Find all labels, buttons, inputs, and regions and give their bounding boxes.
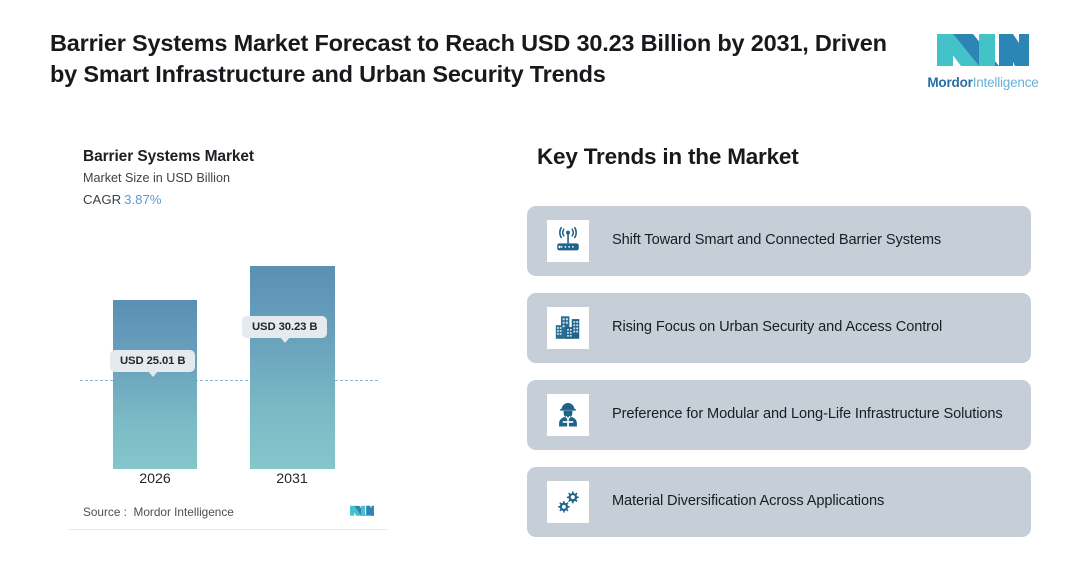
trend-card-1-label: Shift Toward Smart and Connected Barrier… xyxy=(612,231,941,251)
brand-name-secondary: Intelligence xyxy=(973,75,1039,90)
brand-logo-text: MordorIntelligence xyxy=(913,76,1053,90)
trend-card-1[interactable]: Shift Toward Smart and Connected Barrier… xyxy=(527,206,1031,276)
city-buildings-icon xyxy=(547,307,589,349)
chart-source-row: Source : Mordor Intelligence xyxy=(83,502,375,524)
bar-label-2026: USD 25.01 B xyxy=(110,350,195,372)
chart-source-text: Source : Mordor Intelligence xyxy=(83,505,234,519)
trend-card-3-label: Preference for Modular and Long-Life Inf… xyxy=(612,405,1003,425)
x-axis-labels: 2026 2031 xyxy=(68,471,388,495)
x-tick-2031: 2031 xyxy=(247,471,337,487)
construction-worker-icon xyxy=(547,394,589,436)
chart-title: Barrier Systems Market xyxy=(83,148,254,166)
page-title: Barrier Systems Market Forecast to Reach… xyxy=(50,28,890,89)
chart-subtitle: Market Size in USD Billion xyxy=(83,171,230,185)
mordor-m-logo-icon-small xyxy=(349,502,375,524)
bar-chart-plot-area: USD 25.01 B USD 30.23 B xyxy=(68,224,388,469)
trend-card-2[interactable]: Rising Focus on Urban Security and Acces… xyxy=(527,293,1031,363)
bar-label-2031: USD 30.23 B xyxy=(242,316,327,338)
trend-card-4[interactable]: Material Diversification Across Applicat… xyxy=(527,467,1031,537)
wireless-router-icon xyxy=(547,220,589,262)
key-trends-heading: Key Trends in the Market xyxy=(537,144,799,170)
source-label: Source : xyxy=(83,505,127,519)
mordor-m-logo-icon xyxy=(933,22,1033,70)
header: Barrier Systems Market Forecast to Reach… xyxy=(0,0,1071,118)
x-tick-2026: 2026 xyxy=(110,471,200,487)
gears-icon xyxy=(547,481,589,523)
cagr-label: CAGR xyxy=(83,192,121,207)
bar-2026 xyxy=(113,300,197,469)
infographic-page: Barrier Systems Market Forecast to Reach… xyxy=(0,0,1071,587)
bar-2031 xyxy=(250,266,335,469)
source-name: Mordor Intelligence xyxy=(134,505,234,519)
market-size-chart-card: Barrier Systems Market Market Size in US… xyxy=(68,138,388,530)
trend-card-3[interactable]: Preference for Modular and Long-Life Inf… xyxy=(527,380,1031,450)
trend-card-4-label: Material Diversification Across Applicat… xyxy=(612,492,884,512)
chart-cagr: CAGR3.87% xyxy=(83,192,162,207)
brand-name-primary: Mordor xyxy=(927,75,972,90)
trend-card-2-label: Rising Focus on Urban Security and Acces… xyxy=(612,318,942,338)
brand-logo: MordorIntelligence xyxy=(913,22,1053,100)
cagr-value: 3.87% xyxy=(124,192,161,207)
